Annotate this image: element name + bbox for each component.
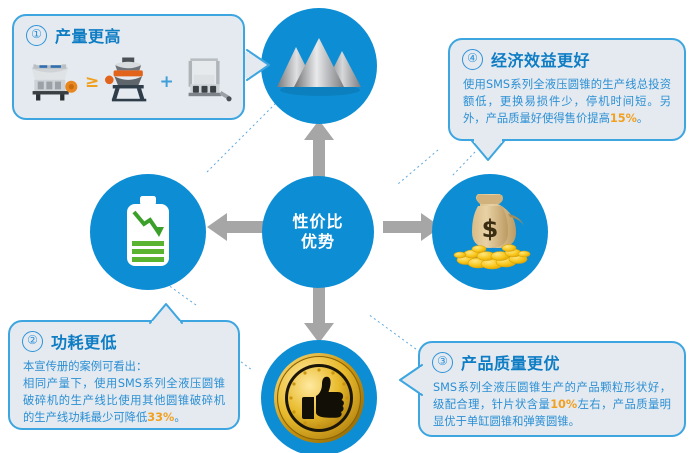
power-node[interactable] — [90, 174, 206, 290]
callout-4-header: ④ 经济效益更好 — [450, 40, 684, 73]
callout-3-header: ③ 产品质量更优 — [420, 343, 684, 376]
infographic-canvas: $ — [0, 0, 696, 453]
operator-plus: + — [159, 74, 173, 105]
callout-2-body-before: 相同产量下，使用SMS系列全液压圆锥破碎机的生产线比使用其他圆锥破碎机的生产线功… — [23, 377, 225, 424]
callout-box-3[interactable]: ③ 产品质量更优 SMS系列全液压圆锥生产的产品颗粒形状好，级配合理，针片状含量… — [418, 341, 686, 437]
callout-box-4[interactable]: ④ 经济效益更好 使用SMS系列全液压圆锥的生产线总投资额低，更换易损件少，停机… — [448, 38, 686, 141]
money-bag-coins-icon: $ — [446, 192, 534, 272]
svg-text:$: $ — [482, 215, 499, 243]
callout-2-highlight: 33% — [147, 411, 174, 424]
callout-2-body-line1: 本宣传册的案例可看出： — [23, 358, 225, 375]
callout-3-body: SMS系列全液压圆锥生产的产品颗粒形状好，级配合理，针片状含量10%左右，产品质… — [420, 376, 684, 439]
callout-4-highlight: 15% — [610, 112, 637, 125]
callout-4-number: ④ — [462, 49, 483, 70]
arrow-up-icon — [301, 118, 337, 180]
arrow-down-icon — [301, 283, 337, 345]
callout-2-number: ② — [22, 331, 43, 352]
center-hub[interactable]: 性价比 优势 — [262, 176, 374, 288]
callout-1-header: ① 产量更高 — [14, 16, 243, 49]
callout-3-title: 产品质量更优 — [461, 350, 560, 374]
operator-greater-equal: ≥ — [85, 74, 99, 105]
callout-2-body: 本宣传册的案例可看出： 相同产量下，使用SMS系列全液压圆锥破碎机的生产线比使用… — [10, 355, 238, 436]
callout-4-tail — [470, 139, 506, 163]
callout-3-tail — [398, 363, 424, 397]
callout-1-tail — [245, 48, 271, 82]
wire-box4-to-economy — [398, 150, 438, 184]
hub-line-1: 性价比 — [292, 212, 343, 232]
callout-2-header: ② 功耗更低 — [10, 322, 238, 355]
hydraulic-cone-crusher-photo — [24, 53, 79, 105]
battery-low-power-icon — [119, 194, 177, 270]
callout-1-title: 产量更高 — [55, 23, 121, 47]
production-node[interactable] — [261, 8, 377, 124]
spring-cone-crusher-photo — [180, 53, 233, 105]
wire-box3-to-quality — [368, 314, 420, 352]
hub-line-2: 优势 — [292, 232, 343, 252]
callout-4-body: 使用SMS系列全液压圆锥的生产线总投资额低，更换易损件少，停机时间短。另外，产品… — [450, 73, 684, 136]
callout-2-title: 功耗更低 — [51, 329, 117, 353]
arrow-left-icon — [205, 211, 267, 243]
gold-medal-thumbs-up-icon — [273, 352, 365, 444]
callout-box-2[interactable]: ② 功耗更低 本宣传册的案例可看出： 相同产量下，使用SMS系列全液压圆锥破碎机… — [8, 320, 240, 430]
machine-comparison-row: ≥ + — [14, 49, 243, 113]
callout-1-number: ① — [26, 25, 47, 46]
callout-2-body-after: 。 — [174, 411, 185, 424]
callout-2-tail — [148, 301, 184, 325]
stockpile-cones-icon — [276, 35, 362, 97]
callout-box-1[interactable]: ① 产量更高 ≥ — [12, 14, 245, 120]
quality-node[interactable] — [261, 340, 377, 453]
callout-3-number: ③ — [432, 352, 453, 373]
economy-node[interactable]: $ — [432, 174, 548, 290]
single-cylinder-cone-crusher-photo — [105, 53, 153, 105]
callout-3-highlight: 10% — [550, 398, 577, 411]
callout-4-title: 经济效益更好 — [491, 47, 590, 71]
callout-4-body-after: 。 — [637, 112, 648, 125]
